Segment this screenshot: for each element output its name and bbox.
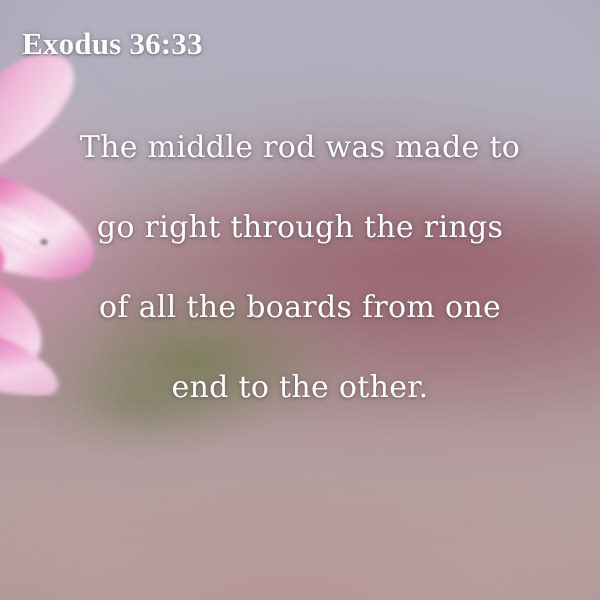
verse-reference-title: Exodus 36:33 xyxy=(22,24,203,64)
verse-line: of all the boards from one xyxy=(20,268,580,348)
verse-line: go right through the rings xyxy=(20,188,580,268)
verse-line: The middle rod was made to xyxy=(20,108,580,188)
verse-image-canvas: Exodus 36:33 The middle rod was made to … xyxy=(0,0,600,600)
verse-line: end to the other. xyxy=(20,348,580,428)
verse-text-block: The middle rod was made to go right thro… xyxy=(0,108,600,428)
